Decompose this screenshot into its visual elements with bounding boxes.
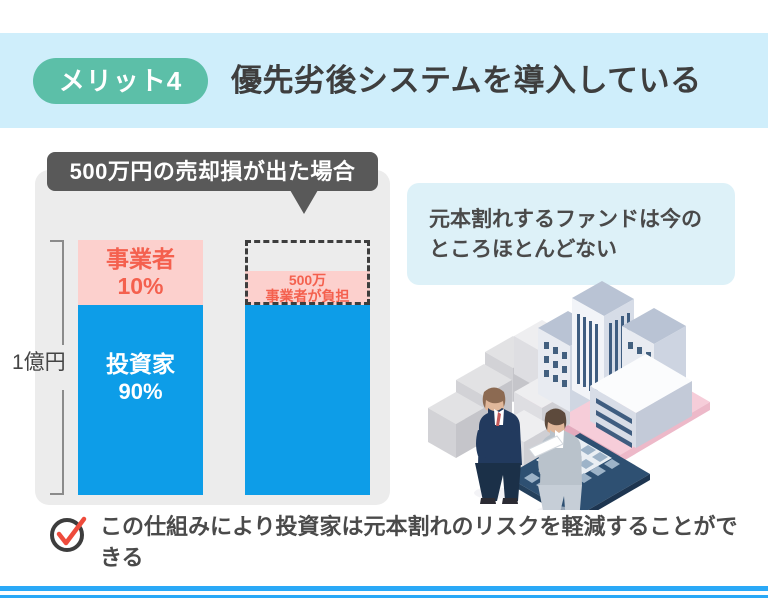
bottom-rule-thick bbox=[0, 586, 768, 591]
footer-note: この仕組みにより投資家は元本割れのリスクを軽減することができる bbox=[48, 512, 748, 574]
footer-note-text: この仕組みにより投資家は元本割れのリスクを軽減することができる bbox=[100, 512, 748, 574]
loss-scenario-banner-label: 500万円の売却損が出た場合 bbox=[70, 161, 356, 183]
illustration-svg bbox=[410, 280, 760, 510]
bracket-line-upper bbox=[62, 240, 64, 345]
operator-portion-dashed-outline bbox=[245, 240, 370, 305]
merit-badge: メリット4 bbox=[33, 58, 208, 104]
loss-scenario-banner: 500万円の売却損が出た場合 bbox=[47, 152, 378, 191]
bar-segment-operator: 事業者 10% bbox=[78, 240, 203, 305]
bar-segment-investor: 投資家 90% bbox=[78, 305, 203, 495]
page-title: 優先劣後システムを導入している bbox=[231, 62, 702, 99]
callout-text: 元本割れするファンドは今のところほとんどない bbox=[429, 205, 721, 266]
bar-normal: 事業者 10% 投資家 90% bbox=[78, 240, 203, 495]
banner-pointer-triangle bbox=[290, 190, 318, 214]
bracket-label: 1億円 bbox=[12, 352, 66, 373]
isometric-city-illustration bbox=[410, 280, 760, 510]
investor-label: 投資家 bbox=[106, 351, 175, 379]
bottom-rule-thin bbox=[0, 595, 768, 598]
investor-percent: 90% bbox=[118, 379, 162, 405]
operator-label: 事業者 bbox=[106, 246, 175, 272]
bracket-line-lower bbox=[62, 390, 64, 495]
merit-badge-label: メリット4 bbox=[59, 68, 182, 94]
bar-loss-scenario: 500万 事業者が負担 bbox=[245, 240, 370, 495]
check-circle-icon bbox=[48, 514, 88, 554]
operator-percent: 10% bbox=[117, 273, 163, 299]
callout-box: 元本割れするファンドは今のところほとんどない bbox=[407, 183, 735, 285]
bar-segment-investor-protected bbox=[245, 305, 370, 495]
bracket-tick-bottom bbox=[50, 493, 64, 495]
